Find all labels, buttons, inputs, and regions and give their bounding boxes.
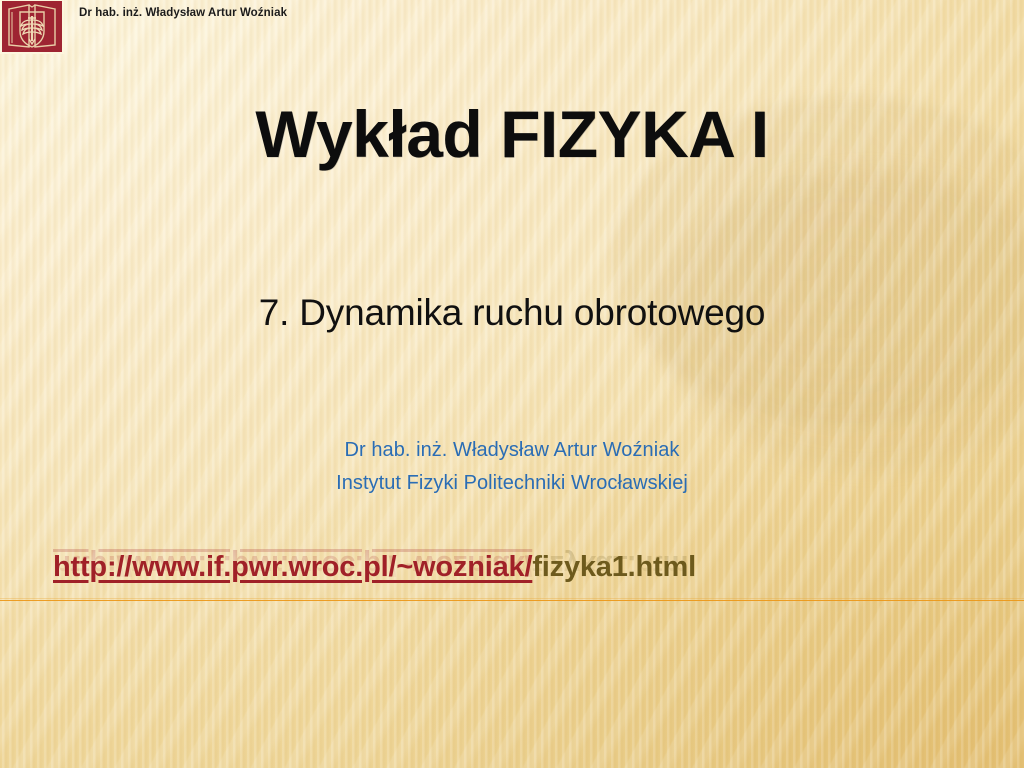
author-name-line: Dr hab. inż. Władysław Artur Woźniak bbox=[0, 434, 1024, 467]
course-url-file-part[interactable]: fizyka1.html bbox=[532, 551, 696, 583]
university-crest-icon bbox=[2, 1, 62, 52]
course-url[interactable]: http://www.if.pwr.wroc.pl/~wozniak/fizyk… bbox=[53, 548, 973, 604]
course-url-text[interactable]: http://www.if.pwr.wroc.pl/~wozniak/fizyk… bbox=[53, 548, 973, 586]
university-logo bbox=[0, 0, 64, 54]
course-url-link-part[interactable]: http://www.if.pwr.wroc.pl/~wozniak/ bbox=[53, 551, 532, 583]
author-institute-line: Instytut Fizyki Politechniki Wrocławskie… bbox=[0, 467, 1024, 500]
author-block: Dr hab. inż. Władysław Artur Woźniak Ins… bbox=[0, 434, 1024, 500]
presentation-slide: Dr hab. inż. Władysław Artur Woźniak Wyk… bbox=[0, 0, 1024, 768]
divider-rule-soft bbox=[0, 598, 1024, 599]
header-author-name: Dr hab. inż. Władysław Artur Woźniak bbox=[79, 7, 287, 19]
divider-rule bbox=[0, 600, 1024, 601]
slide-subtitle: 7. Dynamika ruchu obrotowego bbox=[0, 292, 1024, 334]
slide-title: Wykład FIZYKA I bbox=[0, 100, 1024, 170]
